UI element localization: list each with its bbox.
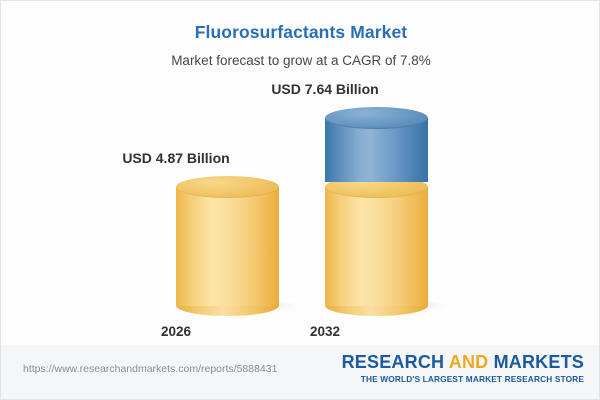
source-url[interactable]: https://www.researchandmarkets.com/repor… xyxy=(23,363,277,375)
logo-word-and: AND xyxy=(449,352,489,372)
bar-segment-base-2032 xyxy=(325,176,428,306)
bar-top-cap xyxy=(176,176,279,198)
chart-plot-area: USD 4.87 Billion 2026 USD 7.64 Billion xyxy=(1,1,600,346)
bar-cylinder-2026[interactable] xyxy=(176,176,279,306)
logo-word-research: RESEARCH xyxy=(342,352,445,372)
bar-top-cap xyxy=(325,107,428,129)
value-label-2032: USD 7.64 Billion xyxy=(271,81,378,97)
logo-tagline: THE WORLD'S LARGEST MARKET RESEARCH STOR… xyxy=(342,374,584,384)
logo-word-markets: MARKETS xyxy=(494,352,584,372)
bar-segment-base-2026 xyxy=(176,176,279,306)
value-label-2026: USD 4.87 Billion xyxy=(122,150,229,166)
market-forecast-infographic: Fluorosurfactants Market Market forecast… xyxy=(0,0,600,400)
footer-bar: https://www.researchandmarkets.com/repor… xyxy=(1,345,600,399)
bar-body xyxy=(325,187,428,306)
logo-wordmark: RESEARCH AND MARKETS xyxy=(342,353,584,372)
research-and-markets-logo[interactable]: RESEARCH AND MARKETS THE WORLD'S LARGEST… xyxy=(342,353,584,384)
category-label-2026: 2026 xyxy=(161,324,191,339)
bar-segment-growth-2032 xyxy=(325,107,428,182)
category-label-2032: 2032 xyxy=(310,324,340,339)
bar-body xyxy=(176,187,279,306)
bar-cylinder-2032[interactable] xyxy=(325,107,428,306)
